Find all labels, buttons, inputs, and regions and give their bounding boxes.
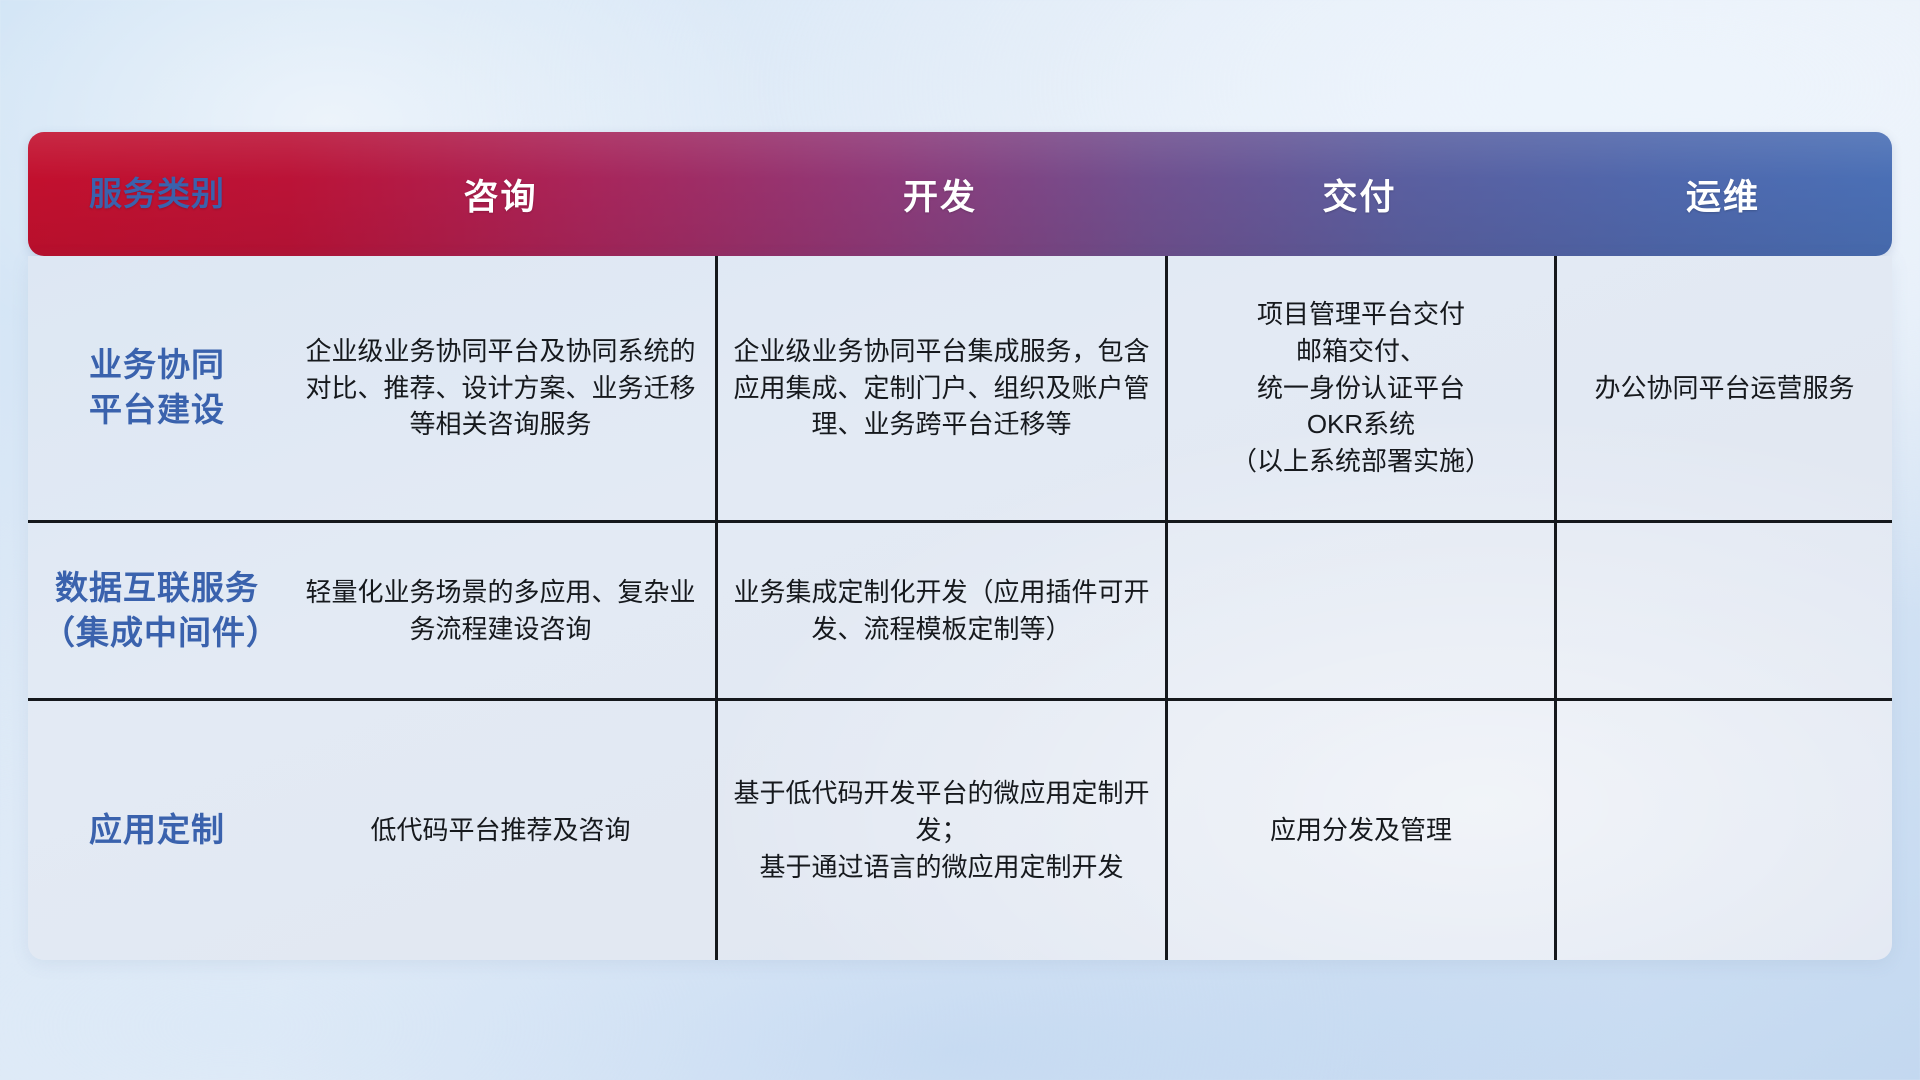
column-header-development: 开发 [715, 132, 1165, 256]
cell-delivery [1165, 523, 1554, 698]
cell-consulting: 低代码平台推荐及咨询 [286, 701, 715, 960]
row-label-cell: 数据互联服务 （集成中间件） [28, 523, 286, 698]
row-label-cell: 业务协同 平台建设 [28, 256, 286, 520]
cell-development: 企业级业务协同平台集成服务，包含应用集成、定制门户、组织及账户管理、业务跨平台迁… [715, 256, 1165, 520]
cell-operations: 办公协同平台运营服务 [1554, 256, 1892, 520]
table-row: 应用定制 低代码平台推荐及咨询 基于低代码开发平台的微应用定制开发； 基于通过语… [28, 698, 1892, 960]
cell-operations [1554, 523, 1892, 698]
column-header-delivery: 交付 [1165, 132, 1554, 256]
cell-development: 业务集成定制化开发（应用插件可开发、流程模板定制等） [715, 523, 1165, 698]
column-header-consulting: 咨询 [286, 132, 715, 256]
table-body: 业务协同 平台建设 企业级业务协同平台及协同系统的对比、推荐、设计方案、业务迁移… [28, 256, 1892, 960]
cell-development: 基于低代码开发平台的微应用定制开发； 基于通过语言的微应用定制开发 [715, 701, 1165, 960]
column-header-category: 服务类别 [28, 132, 286, 256]
cell-consulting: 轻量化业务场景的多应用、复杂业务流程建设咨询 [286, 523, 715, 698]
table-header-row: 服务类别 咨询 开发 交付 运维 [28, 132, 1892, 256]
cell-delivery: 应用分发及管理 [1165, 701, 1554, 960]
column-header-operations: 运维 [1554, 132, 1892, 256]
row-label-cell: 应用定制 [28, 701, 286, 960]
cell-operations [1554, 701, 1892, 960]
service-category-table: 服务类别 咨询 开发 交付 运维 业务协同 平台建设 企业级业务协同平台及协同系… [28, 132, 1892, 960]
table-row: 数据互联服务 （集成中间件） 轻量化业务场景的多应用、复杂业务流程建设咨询 业务… [28, 520, 1892, 698]
table-row: 业务协同 平台建设 企业级业务协同平台及协同系统的对比、推荐、设计方案、业务迁移… [28, 256, 1892, 520]
cell-delivery: 项目管理平台交付 邮箱交付、 统一身份认证平台 OKR系统 （以上系统部署实施） [1165, 256, 1554, 520]
cell-consulting: 企业级业务协同平台及协同系统的对比、推荐、设计方案、业务迁移等相关咨询服务 [286, 256, 715, 520]
